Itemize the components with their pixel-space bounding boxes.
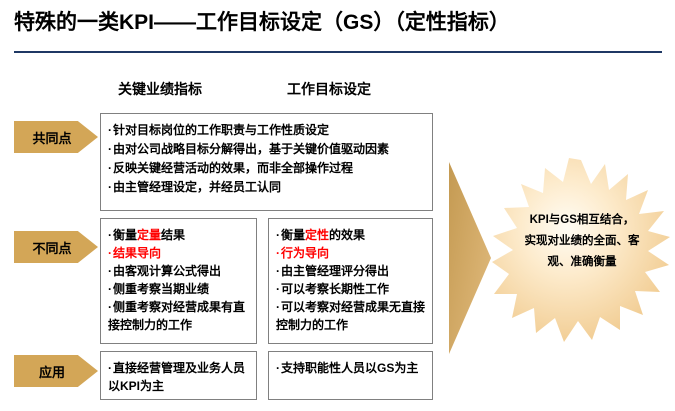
row-tag-commonalities: 共同点 bbox=[14, 121, 98, 153]
list-item: 由对公司战略目标分解得出，基于关键价值驱动因素 bbox=[108, 140, 426, 159]
application-kpi-box: 直接经营管理及业务人员以KPI为主 bbox=[100, 351, 257, 400]
list-item: 由主管经理设定，并经员工认同 bbox=[108, 178, 426, 197]
differences-gs-box: 衡量定性的效果 行为导向 由主管经理评分得出 可以考察长期性工作 可以考察对经营… bbox=[268, 218, 433, 344]
list-item: 侧重考察当期业绩 bbox=[108, 280, 250, 298]
list-item-highlight: 定性 bbox=[305, 228, 329, 242]
title-divider bbox=[14, 51, 662, 53]
list-item-suffix: 结果 bbox=[161, 228, 185, 242]
list-item: 侧重考察对经营成果有直接控制力的工作 bbox=[108, 298, 250, 334]
column-header-gs: 工作目标设定 bbox=[287, 79, 371, 99]
list-item: 由客观计算公式得出 bbox=[108, 262, 250, 280]
list-item-prefix: 衡量 bbox=[113, 228, 137, 242]
page-title: 特殊的一类KPI——工作目标设定（GS）（定性指标） bbox=[14, 6, 664, 36]
list-item: 反映关键经营活动的效果，而非全部操作过程 bbox=[108, 159, 426, 178]
list-item: 可以考察长期性工作 bbox=[276, 280, 426, 298]
list-item-highlight: 定量 bbox=[137, 228, 161, 242]
list-item: 结果导向 bbox=[108, 244, 250, 262]
row-tag-differences: 不同点 bbox=[14, 231, 98, 263]
right-arrow-icon bbox=[449, 162, 491, 354]
list-item: 由主管经理评分得出 bbox=[276, 262, 426, 280]
column-header-kpi: 关键业绩指标 bbox=[118, 79, 202, 99]
list-item: 可以考察对经营成果无直接控制力的工作 bbox=[276, 298, 426, 334]
starburst-text: KPI与GS相互结合，实现对业绩的全面、客观、准确衡量 bbox=[524, 210, 640, 273]
list-item: 衡量定量结果 bbox=[108, 226, 250, 244]
differences-kpi-box: 衡量定量结果 结果导向 由客观计算公式得出 侧重考察当期业绩 侧重考察对经营成果… bbox=[100, 218, 257, 344]
list-item: 直接经营管理及业务人员以KPI为主 bbox=[108, 359, 250, 395]
list-item: 衡量定性的效果 bbox=[276, 226, 426, 244]
commonalities-box: 针对目标岗位的工作职责与工作性质设定 由对公司战略目标分解得出，基于关键价值驱动… bbox=[100, 113, 433, 211]
application-gs-box: 支持职能性人员以GS为主 bbox=[268, 351, 433, 400]
row-tag-application: 应用 bbox=[14, 355, 98, 387]
list-item: 支持职能性人员以GS为主 bbox=[276, 359, 426, 377]
list-item: 针对目标岗位的工作职责与工作性质设定 bbox=[108, 121, 426, 140]
list-item-prefix: 衡量 bbox=[281, 228, 305, 242]
list-item: 行为导向 bbox=[276, 244, 426, 262]
list-item-suffix: 的效果 bbox=[329, 228, 365, 242]
